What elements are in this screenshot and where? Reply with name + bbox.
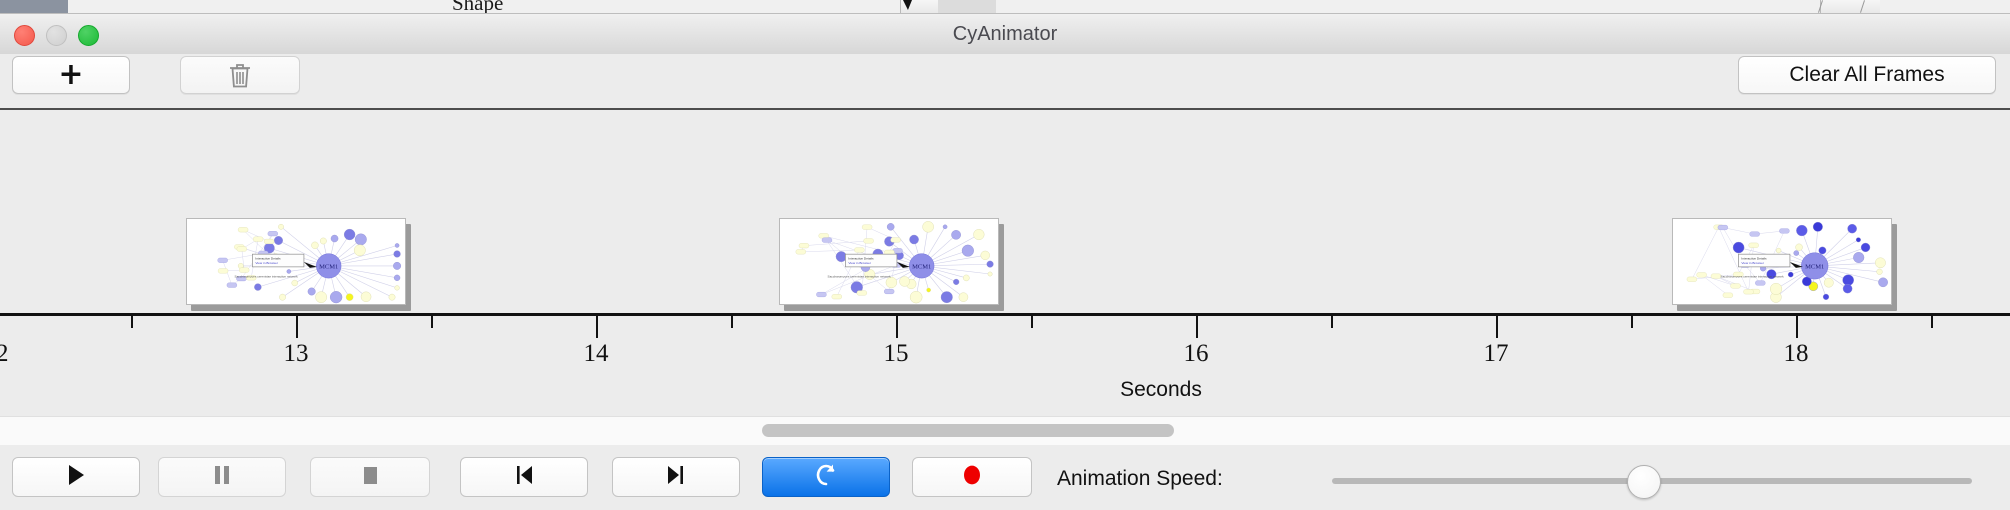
- window-title: CyAnimator: [0, 14, 2010, 54]
- background-window-strip: Shape: [0, 0, 2010, 14]
- bg-tile: [306, 0, 377, 13]
- timeline-frame-thumbnail[interactable]: MCM1 Interaction Details View in Browser…: [779, 218, 999, 305]
- timeline-scrollbar-thumb[interactable]: [762, 424, 1174, 437]
- svg-text:View in Browser: View in Browser: [1741, 261, 1764, 265]
- svg-text:Saccharomyces cerevisiae inter: Saccharomyces cerevisiae interaction net…: [828, 275, 892, 279]
- bg-divider: [1860, 0, 1865, 13]
- clear-all-frames-button[interactable]: Clear All Frames: [1738, 56, 1996, 94]
- play-icon: [65, 463, 87, 492]
- timeline-tick-label: 18: [1784, 340, 1809, 368]
- loop-icon: [815, 462, 837, 493]
- record-icon: [960, 462, 984, 493]
- bg-sort-arrow-icon: [903, 0, 912, 10]
- skip-previous-icon: [512, 463, 536, 492]
- bg-tile: [68, 0, 179, 13]
- timeline-tick-label: 14: [584, 340, 609, 368]
- add-frame-button[interactable]: +: [12, 56, 130, 94]
- timeline-tick-minor: [131, 316, 133, 328]
- timeline-tick-label: 12: [0, 340, 9, 368]
- timeline-tick-minor: [1931, 316, 1933, 328]
- animation-speed-label: Animation Speed:: [1057, 467, 1223, 491]
- skip-next-icon: [664, 463, 688, 492]
- svg-text:MCM1: MCM1: [319, 263, 338, 270]
- trash-icon: [227, 61, 253, 89]
- timeline-tick-major: [1496, 316, 1498, 338]
- thumbnail-plate: MCM1 Interaction Details View in Browser…: [186, 218, 406, 305]
- svg-text:MCM1: MCM1: [1805, 263, 1824, 270]
- svg-text:View in Browser: View in Browser: [255, 261, 278, 265]
- thumbnail-plate: MCM1 Interaction Details View in Browser…: [779, 218, 999, 305]
- svg-text:Interaction Details: Interaction Details: [255, 256, 281, 260]
- animation-speed-slider-thumb[interactable]: [1627, 465, 1661, 499]
- timeline-tick-major: [1796, 316, 1798, 338]
- pause-icon: [212, 463, 232, 492]
- bg-tile: [938, 0, 997, 13]
- timeline-axis: [0, 313, 2010, 316]
- timeline-tick-major: [896, 316, 898, 338]
- cyanimator-window: Shape CyAnimator + Clear All Frames 1213…: [0, 0, 2010, 510]
- pause-button[interactable]: [158, 457, 286, 497]
- timeline-panel[interactable]: 12131415161718 MCM1 Interaction Details …: [0, 108, 2010, 418]
- svg-text:View in Browser: View in Browser: [848, 261, 871, 265]
- timeline-tick-major: [296, 316, 298, 338]
- bg-tile: [996, 0, 1821, 13]
- svg-text:MCM1: MCM1: [912, 263, 931, 270]
- timeline-tick-minor: [431, 316, 433, 328]
- timeline-frame-thumbnail[interactable]: MCM1 Interaction Details View in Browser…: [186, 218, 406, 305]
- clear-all-frames-label: Clear All Frames: [1789, 63, 1944, 87]
- svg-text:Interaction Details: Interaction Details: [848, 256, 874, 260]
- network-thumbnail-graph: MCM1 Interaction Details View in Browser…: [187, 219, 405, 304]
- timeline-tick-label: 17: [1484, 340, 1509, 368]
- frame-toolbar: [0, 54, 2010, 108]
- timeline-tick-minor: [1031, 316, 1033, 328]
- timeline-tick-minor: [1631, 316, 1633, 328]
- thumbnail-plate: MCM1 Interaction Details View in Browser…: [1672, 218, 1892, 305]
- timeline-tick-major: [1196, 316, 1198, 338]
- timeline-tick-major: [596, 316, 598, 338]
- network-thumbnail-graph: MCM1 Interaction Details View in Browser…: [780, 219, 998, 304]
- play-button[interactable]: [12, 457, 140, 497]
- plus-icon: +: [58, 60, 83, 90]
- timeline-frame-thumbnail[interactable]: MCM1 Interaction Details View in Browser…: [1672, 218, 1892, 305]
- timeline-tick-label: 16: [1184, 340, 1209, 368]
- timeline-tick-label: 15: [884, 340, 909, 368]
- record-button[interactable]: [912, 457, 1032, 497]
- timeline-tick-minor: [1331, 316, 1333, 328]
- svg-text:Saccharomyces cerevisiae inter: Saccharomyces cerevisiae interaction net…: [235, 275, 299, 279]
- bg-tile: [1880, 0, 2010, 13]
- svg-text:Interaction Details: Interaction Details: [1741, 256, 1767, 260]
- svg-text:Saccharomyces cerevisiae inter: Saccharomyces cerevisiae interaction net…: [1721, 275, 1785, 279]
- bg-tile: [258, 0, 307, 13]
- bg-tile: [226, 0, 259, 13]
- timeline-axis-title-label: Seconds: [1120, 378, 1202, 402]
- title-bar: CyAnimator: [0, 14, 2010, 55]
- bg-selected-block: [0, 0, 68, 14]
- skip-start-button[interactable]: [460, 457, 588, 497]
- timeline-tick-minor: [731, 316, 733, 328]
- bg-tile: [178, 0, 227, 13]
- loop-button[interactable]: [762, 457, 890, 497]
- stop-icon: [360, 463, 380, 492]
- timeline-tick-label: 13: [284, 340, 309, 368]
- bg-column-header-shape: Shape: [452, 0, 503, 14]
- delete-frame-button[interactable]: [180, 56, 300, 94]
- timeline-axis-title: Seconds: [0, 378, 2010, 402]
- stop-button[interactable]: [310, 457, 430, 497]
- network-thumbnail-graph: MCM1 Interaction Details View in Browser…: [1673, 219, 1891, 304]
- skip-end-button[interactable]: [612, 457, 740, 497]
